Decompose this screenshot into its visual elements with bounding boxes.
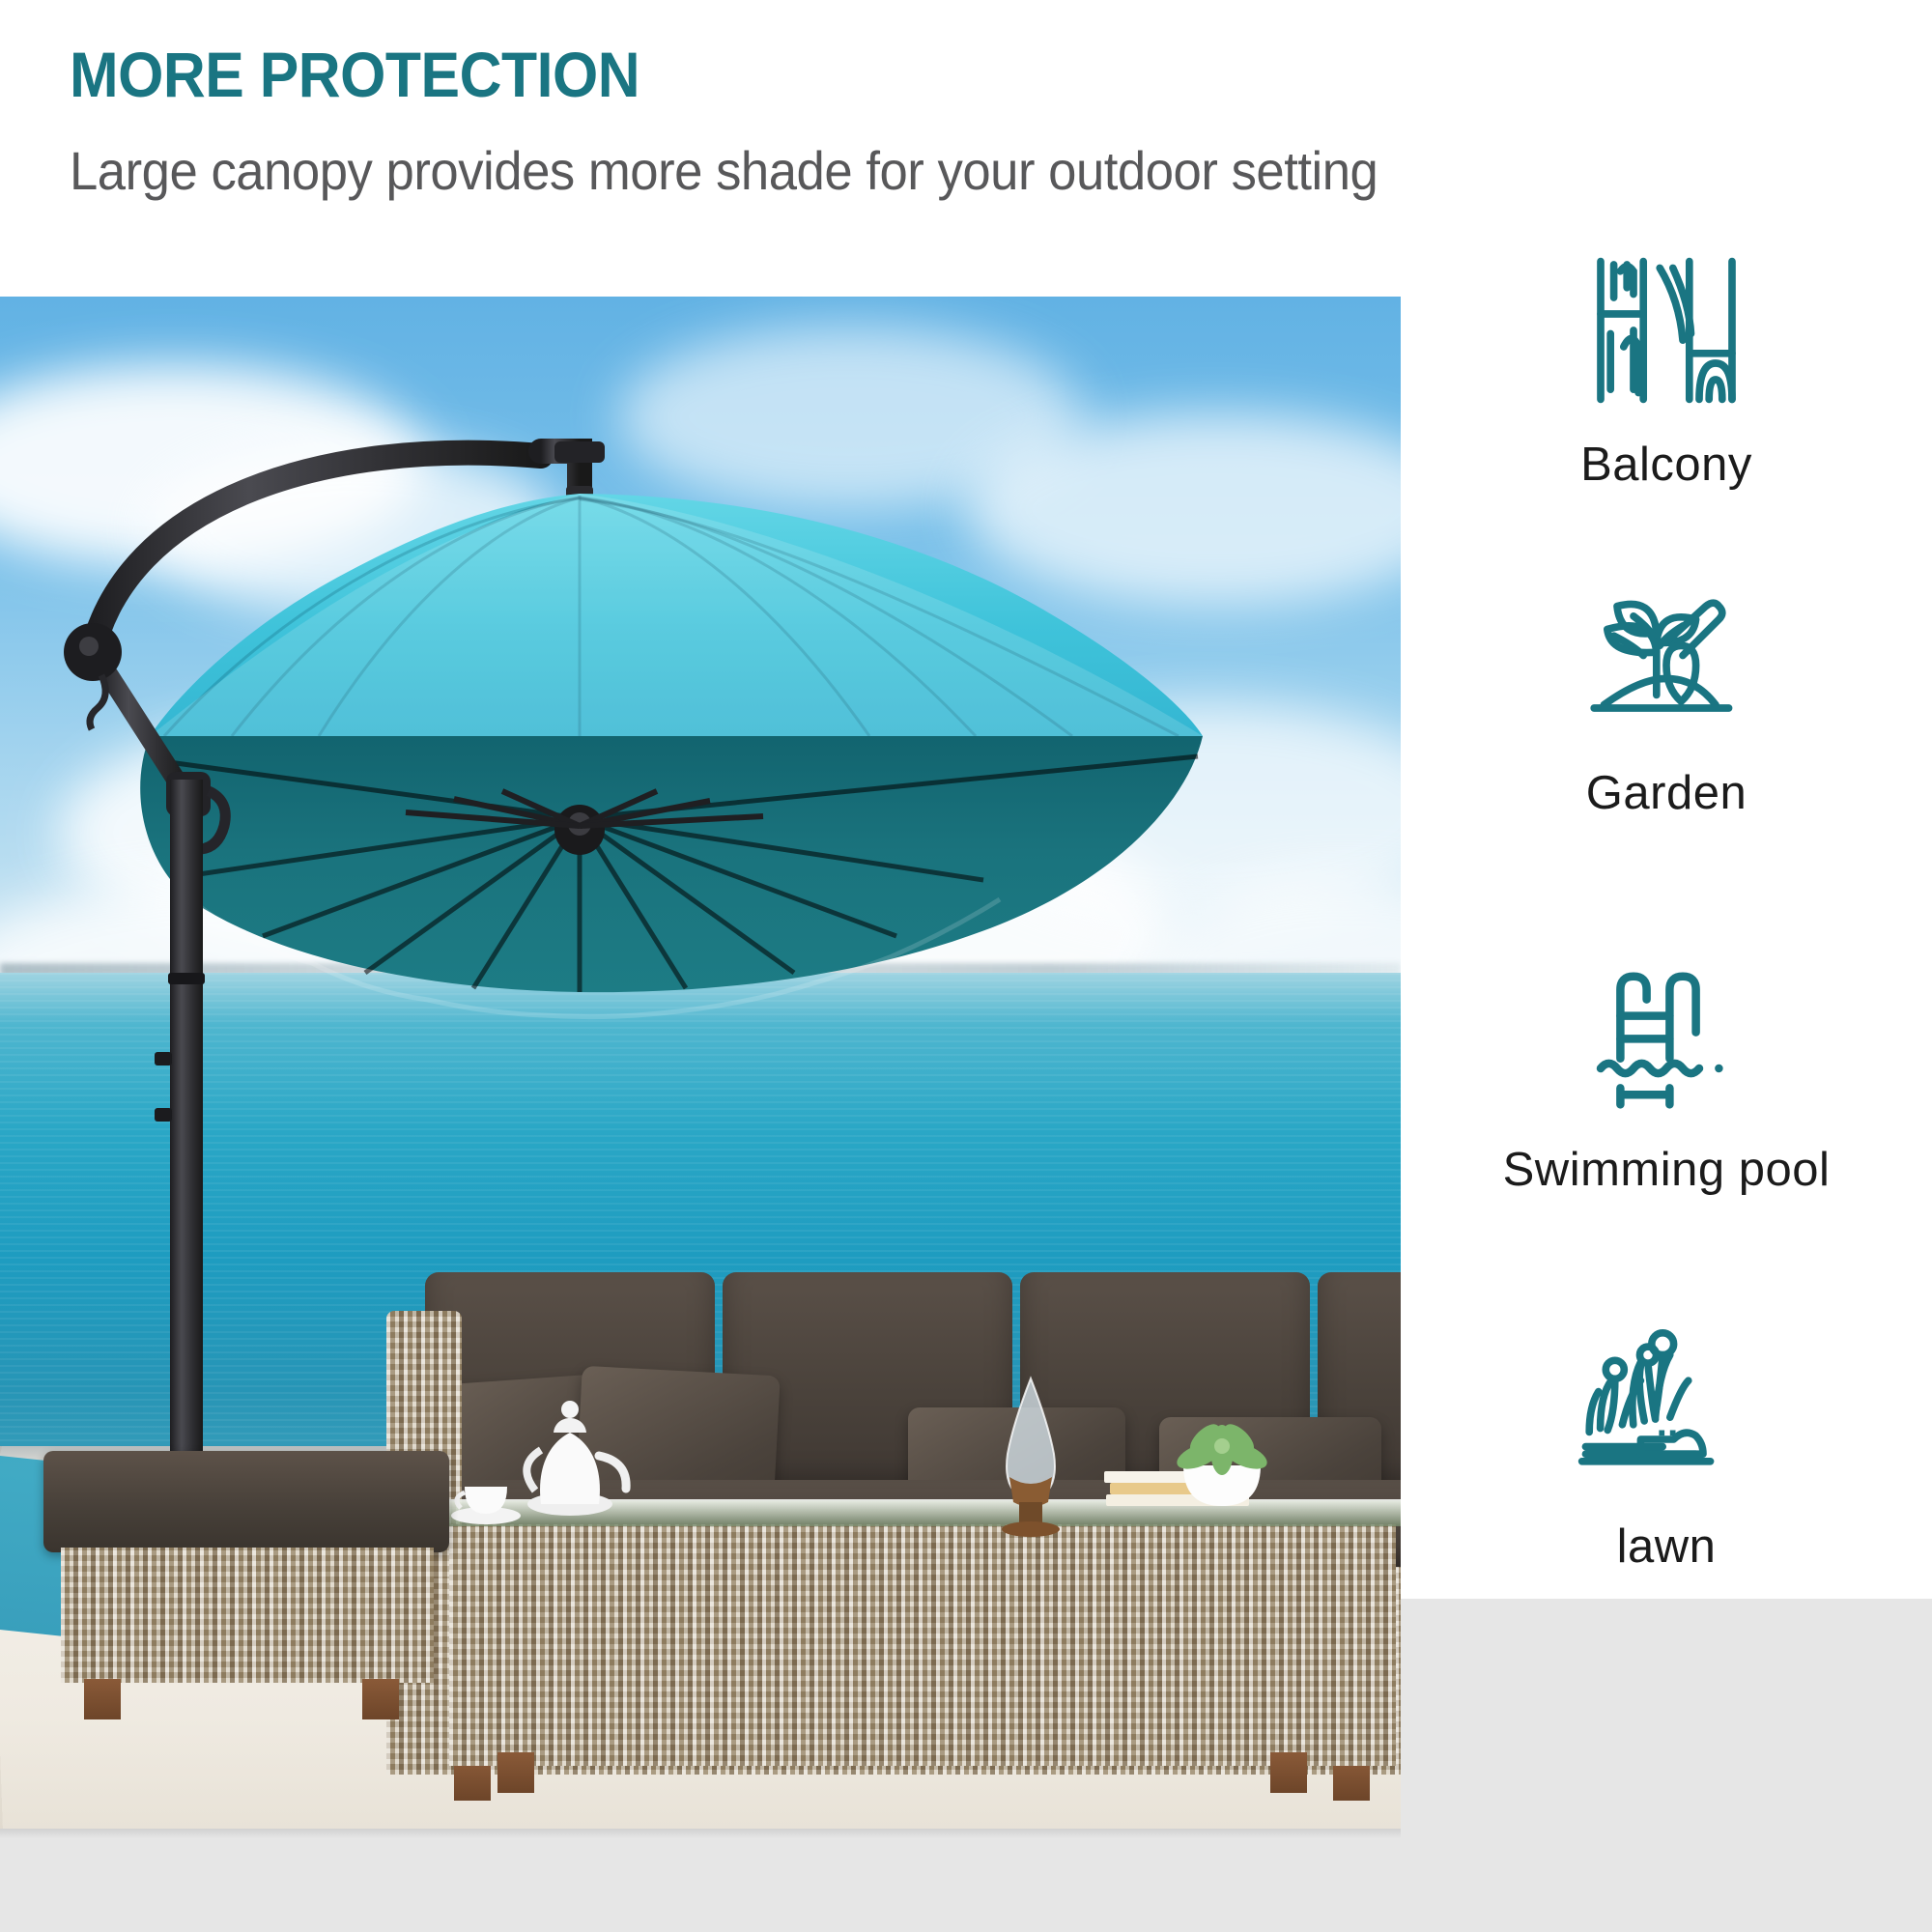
- pole-adjust-knob: [155, 1108, 172, 1122]
- glass-oil-lamp: [1002, 1378, 1060, 1537]
- release-hook: [90, 675, 105, 729]
- lawn-grass-mower-icon: [1575, 1311, 1758, 1494]
- table-wicker-body: [449, 1524, 1396, 1766]
- umbrella-main-pole: [170, 780, 203, 1456]
- pole-collar: [168, 973, 205, 984]
- feature-label: Balcony: [1401, 438, 1932, 492]
- feature-item-swimming-pool[interactable]: Swimming pool: [1401, 953, 1932, 1197]
- strut-pivot-bolt: [79, 637, 99, 656]
- pole-adjust-knob: [155, 1052, 172, 1065]
- ottoman-cushion: [43, 1451, 449, 1552]
- feature-item-lawn[interactable]: lawn: [1401, 1311, 1932, 1574]
- page-subtitle: Large canopy provides more shade for you…: [70, 143, 1820, 200]
- wicker-ottoman: [43, 1451, 449, 1712]
- tabletop-objects: [440, 1350, 1401, 1543]
- feature-label: Garden: [1401, 766, 1932, 820]
- feature-label: lawn: [1401, 1520, 1932, 1574]
- ottoman-wicker-base: [61, 1548, 434, 1683]
- balcony-deck-icon: [1584, 248, 1748, 412]
- feature-item-balcony[interactable]: Balcony: [1401, 248, 1932, 492]
- footer-gray-band: [0, 1829, 1932, 1932]
- table-leg: [1270, 1752, 1307, 1793]
- white-teapot: [526, 1401, 626, 1516]
- page-title: MORE PROTECTION: [70, 43, 1783, 106]
- product-photo: [0, 297, 1401, 1829]
- ottoman-leg: [362, 1679, 399, 1719]
- table-leg: [497, 1752, 534, 1793]
- canopy-underside: [140, 736, 1203, 992]
- garden-plant-trowel-icon: [1584, 577, 1748, 741]
- swimming-pool-ladder-icon: [1584, 953, 1748, 1118]
- feature-item-garden[interactable]: Garden: [1401, 577, 1932, 820]
- feature-label: Swimming pool: [1401, 1143, 1932, 1197]
- teacup-and-saucer: [451, 1487, 521, 1524]
- arm-coupler: [554, 441, 605, 463]
- ottoman-leg: [84, 1679, 121, 1719]
